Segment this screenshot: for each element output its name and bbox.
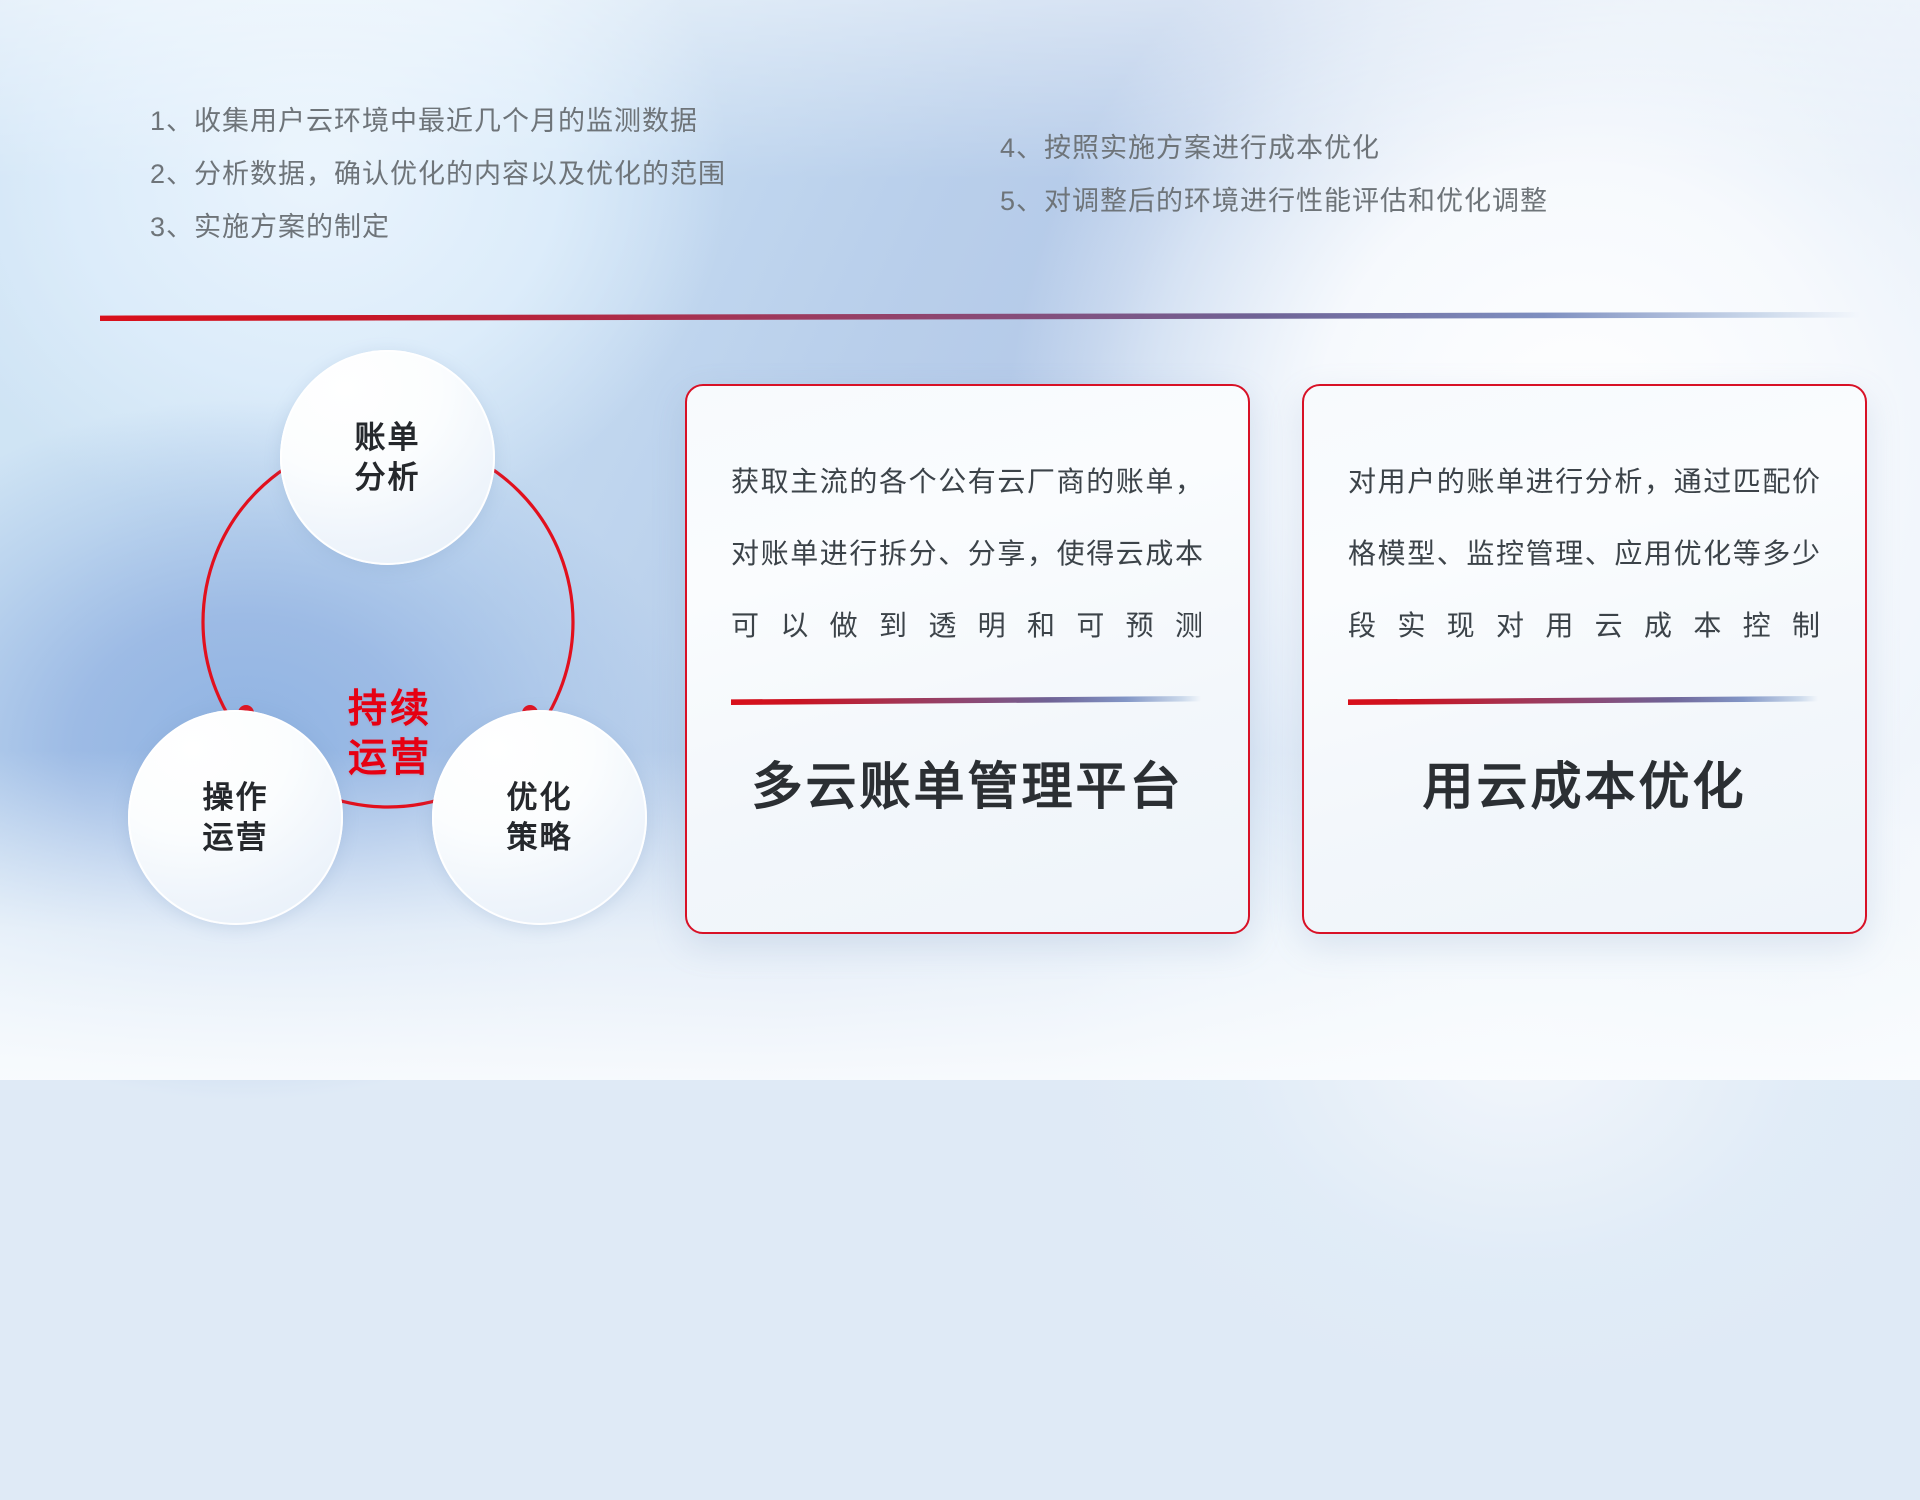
step-item-1: 1、收集用户云环境中最近几个月的监测数据 xyxy=(150,95,726,148)
diagram-center-label: 持续 运营 xyxy=(300,685,480,783)
card-body-text: 对用户的账单进行分析，通过匹配价格模型、监控管理、应用优化等多少段实现对用云成本… xyxy=(1348,446,1821,662)
continuous-operation-diagram: 账单 分析 操作 运营 优化 策略 持续 运营 xyxy=(100,350,660,940)
card-body-text: 获取主流的各个公有云厂商的账单，对账单进行拆分、分享，使得云成本可以做到透明和可… xyxy=(731,446,1204,662)
step-item-5: 5、对调整后的环境进行性能评估和优化调整 xyxy=(1000,175,1548,228)
step-item-3: 3、实施方案的制定 xyxy=(150,201,726,254)
steps-right-column: 4、按照实施方案进行成本优化 5、对调整后的环境进行性能评估和优化调整 xyxy=(1000,122,1548,228)
bubble-label-operation: 操作 运营 xyxy=(203,778,269,858)
card-cloud-cost-optimization[interactable]: 对用户的账单进行分析，通过匹配价格模型、监控管理、应用优化等多少段实现对用云成本… xyxy=(1302,384,1867,934)
card-title: 多云账单管理平台 xyxy=(731,745,1204,819)
step-item-4: 4、按照实施方案进行成本优化 xyxy=(1000,122,1548,175)
bubble-label-bill-analysis: 账单 分析 xyxy=(355,418,421,498)
bubble-label-optimize-strategy: 优化 策略 xyxy=(507,778,573,858)
diagram-bubble-bill-analysis[interactable]: 账单 分析 xyxy=(280,350,495,565)
card-title: 用云成本优化 xyxy=(1348,745,1821,819)
card-divider-rule xyxy=(731,696,1201,705)
step-item-2: 2、分析数据，确认优化的内容以及优化的范围 xyxy=(150,148,726,201)
card-divider-rule xyxy=(1348,696,1818,705)
card-multi-cloud-bill-platform[interactable]: 获取主流的各个公有云厂商的账单，对账单进行拆分、分享，使得云成本可以做到透明和可… xyxy=(685,384,1250,934)
steps-left-column: 1、收集用户云环境中最近几个月的监测数据 2、分析数据，确认优化的内容以及优化的… xyxy=(150,95,726,254)
